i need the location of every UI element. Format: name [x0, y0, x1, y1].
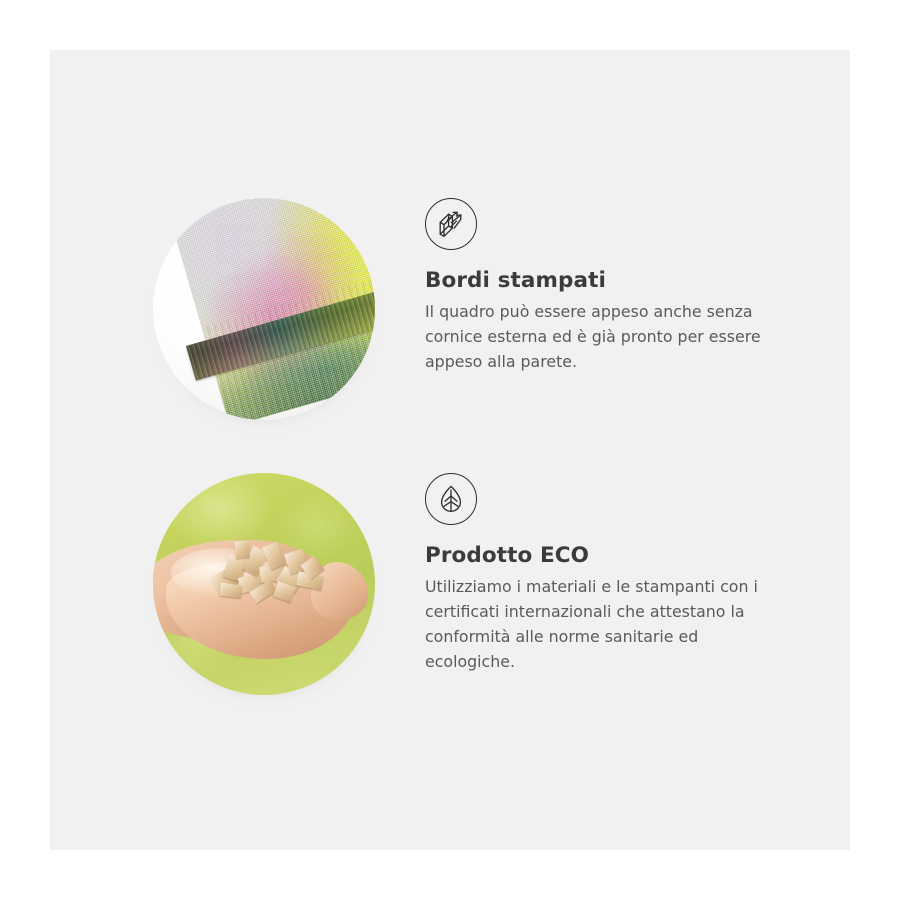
media-circle-2 — [153, 473, 375, 695]
canvas-edge-icon — [425, 198, 477, 250]
content-panel: Bordi stampati Il quadro può essere appe… — [50, 50, 850, 850]
feature-title: Bordi stampati — [425, 268, 805, 294]
feature-1-content: Bordi stampati Il quadro può essere appe… — [425, 198, 805, 375]
canvas-clip — [153, 198, 375, 420]
hands-wood-chips-photo — [153, 473, 375, 695]
wood-chips-pile — [211, 540, 331, 611]
canvas-print-corner-photo — [153, 198, 375, 420]
green-bokeh-background — [153, 473, 375, 695]
feature-description: Il quadro può essere appeso anche senza … — [425, 300, 787, 375]
feature-description: Utilizziamo i materiali e le stampanti c… — [425, 575, 787, 675]
leaf-icon — [425, 473, 477, 525]
feature-title: Prodotto ECO — [425, 543, 805, 569]
product-info-page: Bordi stampati Il quadro può essere appe… — [0, 0, 900, 900]
feature-2-content: Prodotto ECO Utilizziamo i materiali e l… — [425, 473, 805, 675]
media-circle-1 — [153, 198, 375, 420]
